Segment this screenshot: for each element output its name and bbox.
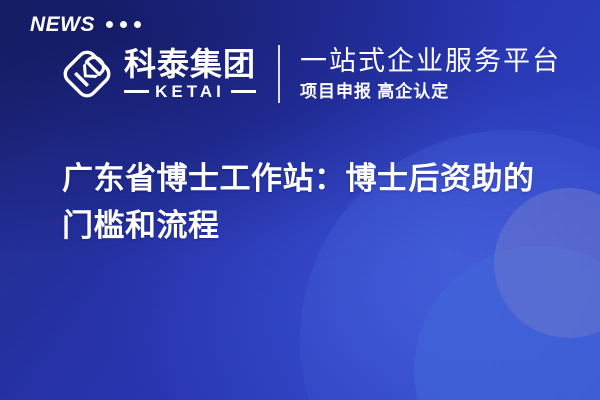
news-dots-icon	[106, 21, 141, 28]
news-dot-2	[120, 21, 127, 28]
brand-name-en-row: KETAI	[124, 83, 256, 100]
news-banner: NEWS 科泰集团	[0, 0, 600, 400]
ketai-diamond-kd-logo-icon	[58, 45, 116, 103]
headline-title: 广东省博士工作站：博士后资助的门槛和流程	[62, 155, 562, 249]
slogan-sub: 项目申报 高企认定	[300, 82, 561, 102]
brand-names: 科泰集团 KETAI	[124, 48, 256, 101]
news-label: NEWS	[30, 14, 95, 35]
slogan-block: 一站式企业服务平台 项目申报 高企认定	[300, 46, 561, 102]
slogan-main: 一站式企业服务平台	[300, 46, 561, 77]
brand-rule-right	[231, 90, 256, 93]
brand-name-cn: 科泰集团	[124, 48, 256, 82]
news-dot-1	[106, 21, 113, 28]
brand-rule-left	[124, 90, 149, 93]
brand-name-en: KETAI	[155, 83, 225, 100]
brand-divider	[278, 45, 280, 103]
brand-lockup: 科泰集团 KETAI 一站式企业服务平台 项目申报 高企认定	[58, 45, 561, 103]
news-tag: NEWS	[30, 14, 141, 35]
news-dot-3	[134, 21, 141, 28]
